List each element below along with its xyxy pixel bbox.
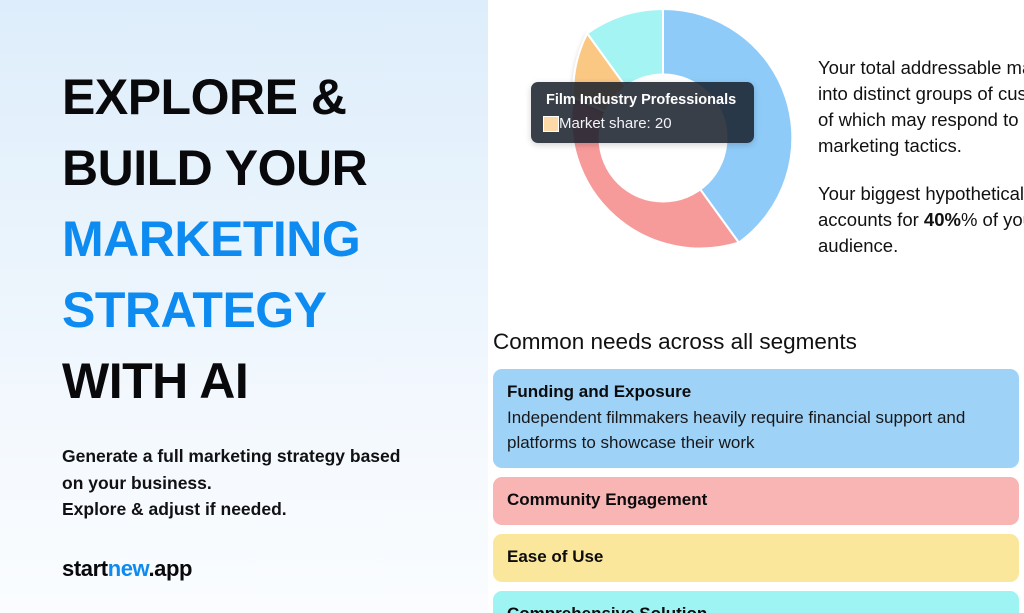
- common-needs-list: Funding and Exposure Independent filmmak…: [493, 369, 1019, 613]
- need-name: Ease of Use: [507, 545, 1005, 569]
- headline-line-2: BUILD YOUR: [62, 133, 488, 204]
- biggest-segment-percent: 40%: [924, 209, 961, 230]
- subcopy-line-1: Generate a full marketing strategy based: [62, 443, 462, 470]
- need-name: Funding and Exposure: [507, 380, 1005, 404]
- page-title: EXPLORE & BUILD YOUR MARKETING STRATEGY …: [62, 62, 488, 417]
- segments-overview: Film Industry Professionals Market share…: [488, 0, 1024, 300]
- brand-part-new: new: [108, 556, 149, 581]
- need-card-community-engagement[interactable]: Community Engagement: [493, 477, 1019, 525]
- marketing-strategy-screen: EXPLORE & BUILD YOUR MARKETING STRATEGY …: [0, 0, 1024, 613]
- need-card-comprehensive-solution[interactable]: Comprehensive Solution: [493, 591, 1019, 613]
- brand-part-tld: .app: [148, 556, 192, 581]
- common-needs-title: Common needs across all segments: [493, 327, 1019, 357]
- subcopy-line-3: Explore & adjust if needed.: [62, 496, 462, 523]
- need-card-funding-and-exposure[interactable]: Funding and Exposure Independent filmmak…: [493, 369, 1019, 468]
- description-paragraph-1: Your total addressable market is split i…: [818, 55, 1024, 159]
- need-card-ease-of-use[interactable]: Ease of Use: [493, 534, 1019, 582]
- common-needs-section: Common needs across all segments Funding…: [493, 327, 1019, 613]
- donut-hole: [599, 74, 728, 203]
- headline-line-1: EXPLORE &: [62, 62, 488, 133]
- subcopy-line-2: on your business.: [62, 470, 462, 497]
- need-name: Community Engagement: [507, 488, 1005, 512]
- headline-line-3: MARKETING: [62, 204, 488, 275]
- brand-logo[interactable]: startnew.app: [62, 556, 488, 582]
- content-panel: Film Industry Professionals Market share…: [488, 0, 1024, 613]
- promo-subcopy: Generate a full marketing strategy based…: [62, 443, 462, 523]
- brand-part-start: start: [62, 556, 108, 581]
- market-share-donut-chart[interactable]: [531, 6, 795, 270]
- headline-line-5: WITH AI: [62, 346, 488, 417]
- description-paragraph-2: Your biggest hypothetical segment accoun…: [818, 181, 1024, 259]
- need-description: Independent filmmakers heavily require f…: [507, 405, 1005, 455]
- headline-line-4: STRATEGY: [62, 275, 488, 346]
- need-name: Comprehensive Solution: [507, 602, 1005, 613]
- promo-panel: EXPLORE & BUILD YOUR MARKETING STRATEGY …: [0, 0, 488, 613]
- donut-svg: [531, 6, 795, 270]
- segments-description: Your total addressable market is split i…: [818, 55, 1024, 259]
